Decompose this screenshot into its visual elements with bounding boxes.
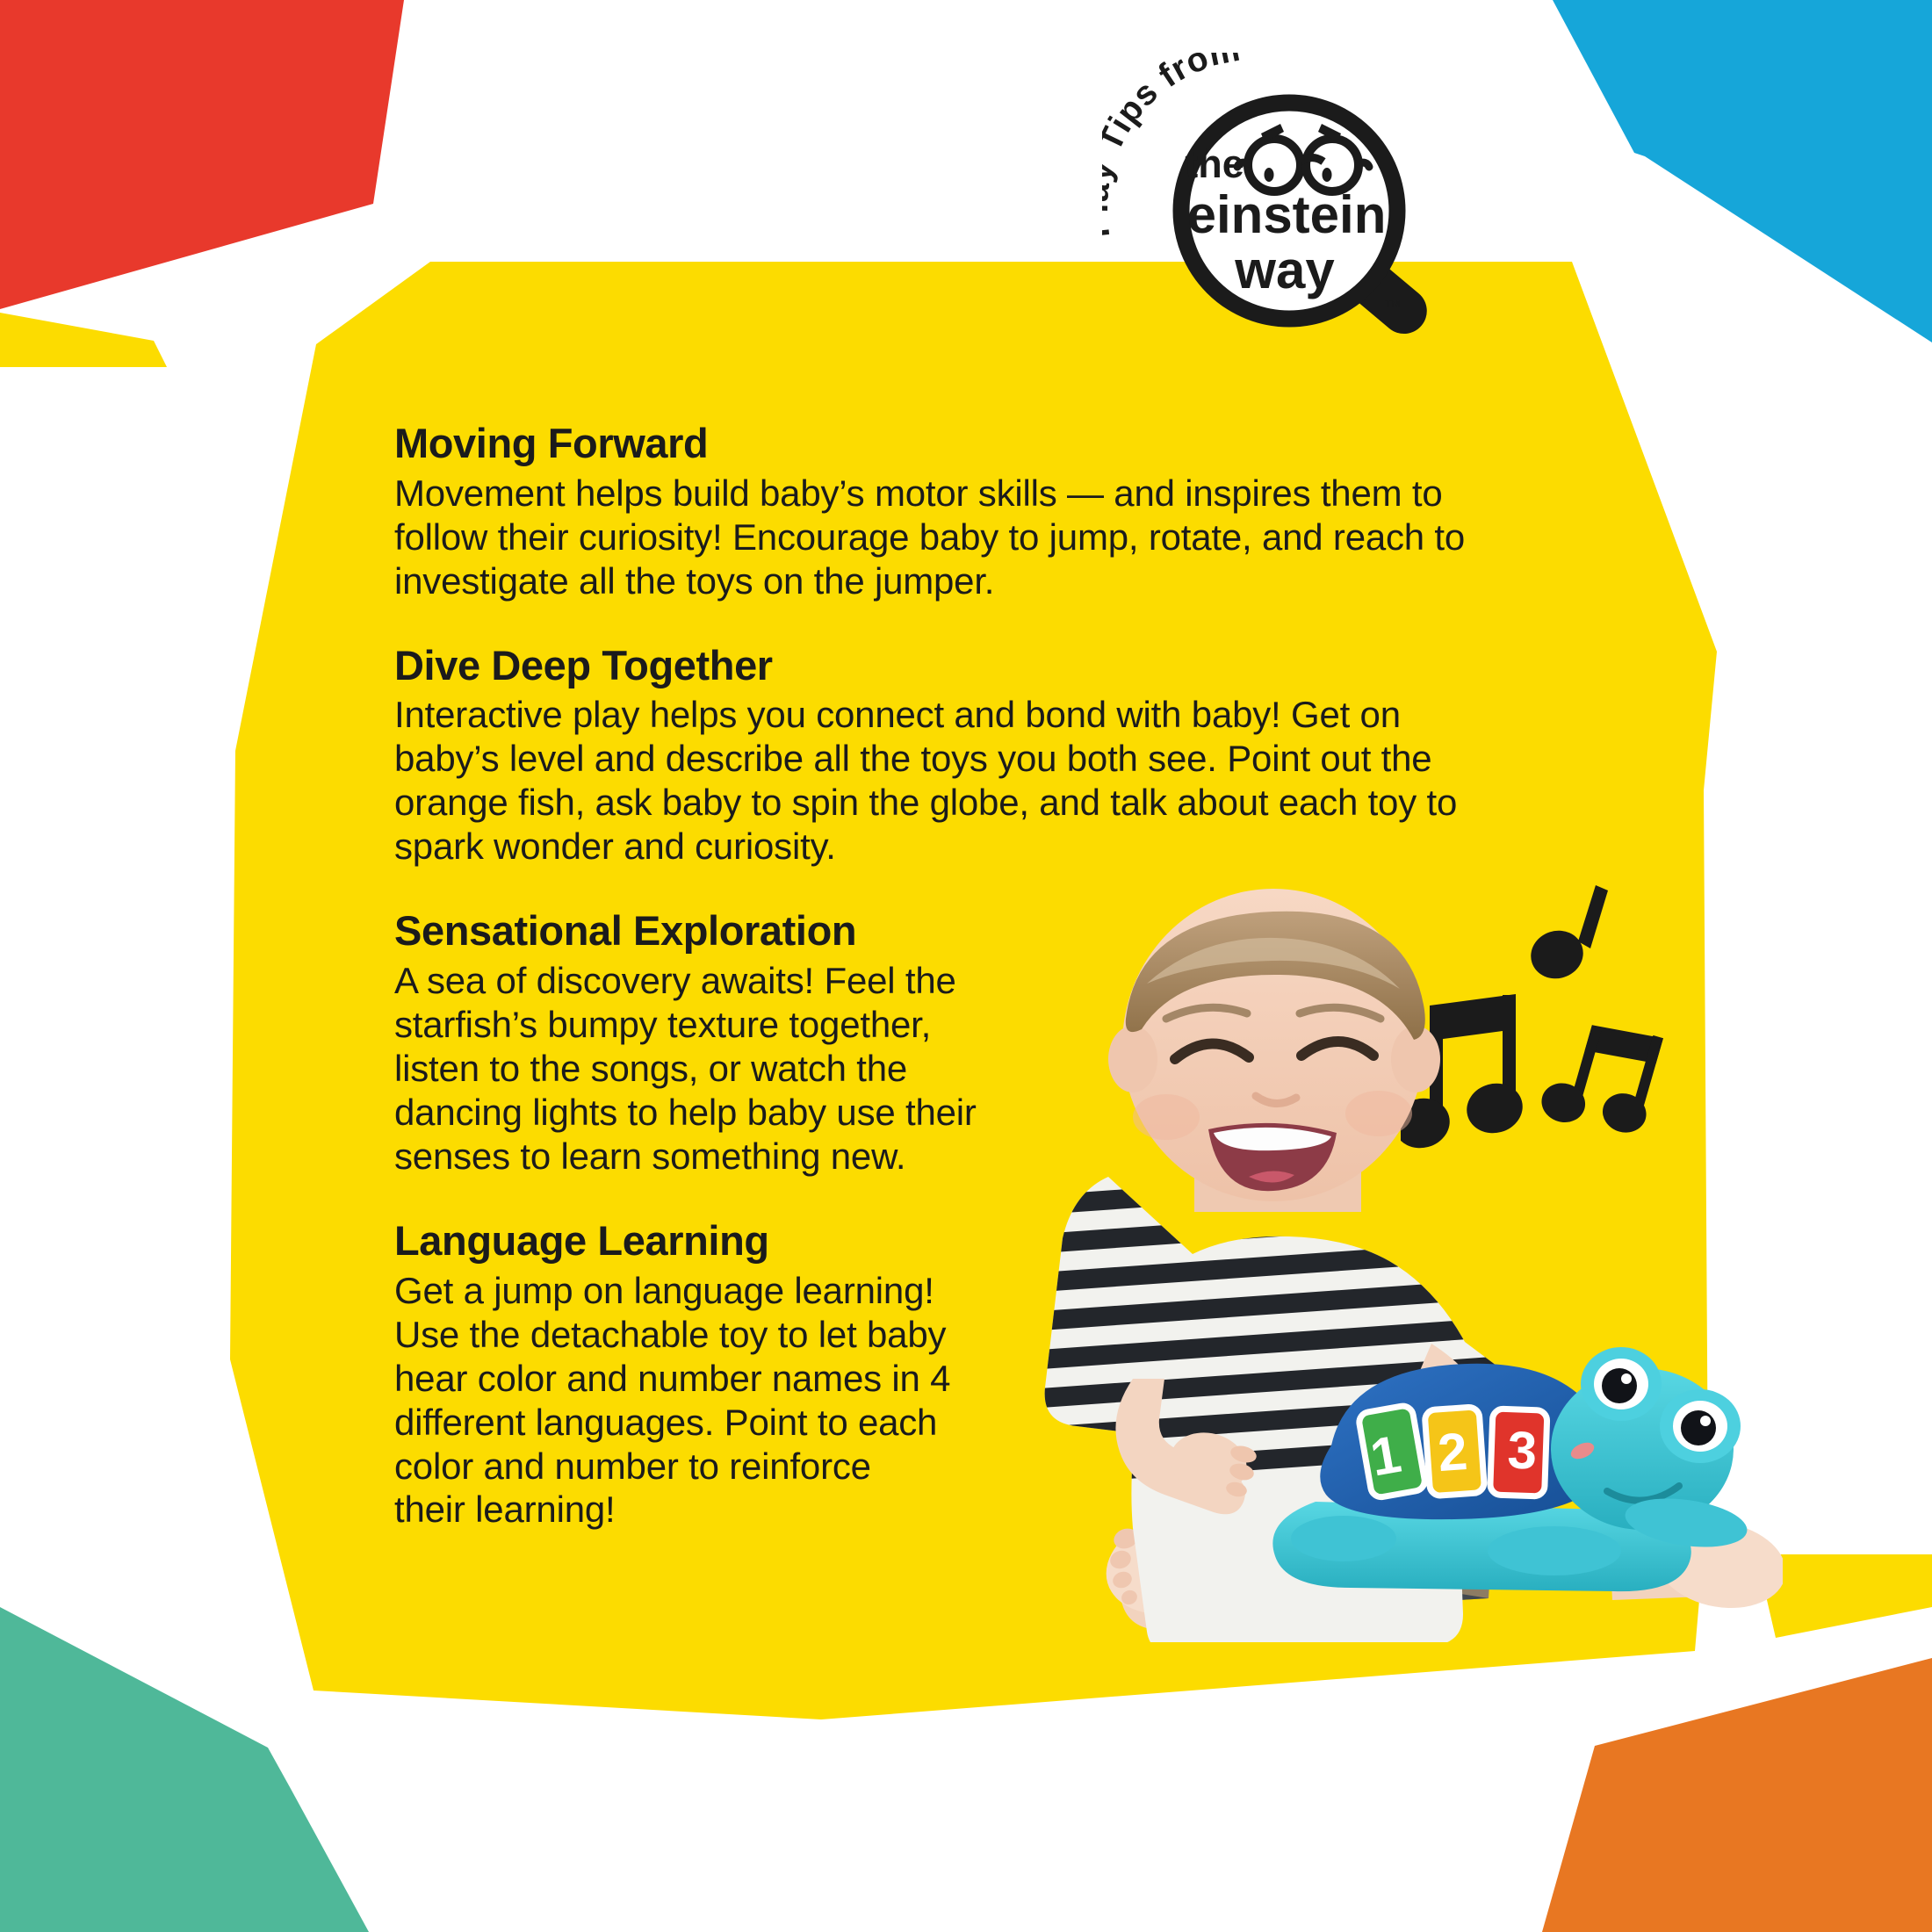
play-tips-list: Moving Forward Movement helps build baby… [394, 422, 1589, 1532]
tip-block-moving-forward: Moving Forward Movement helps build baby… [394, 422, 1589, 603]
tip-block-sensational-exploration: Sensational Exploration A sea of discove… [394, 909, 1589, 1179]
tip-block-language-learning: Language Learning Get a jump on language… [394, 1219, 1589, 1532]
tip-heading: Sensational Exploration [394, 909, 1062, 954]
tip-block-dive-deep-together: Dive Deep Together Interactive play help… [394, 644, 1589, 869]
yellow-fleck-top-left [0, 306, 167, 367]
green-corner-shape [0, 1607, 422, 1932]
yellow-fleck-top-right [1756, 1554, 1932, 1638]
logo-line-way: way [1234, 241, 1335, 299]
tip-heading: Moving Forward [394, 422, 1589, 466]
blue-corner-shape [1519, 0, 1932, 342]
tip-body: A sea of discovery awaits! Feel the star… [394, 959, 1044, 1179]
tip-body: Movement helps build baby’s motor skills… [394, 472, 1589, 603]
red-corner-shape [0, 0, 413, 342]
tip-body: Interactive play helps you connect and b… [394, 693, 1589, 869]
tip-heading: Dive Deep Together [394, 644, 1589, 688]
poster-canvas: Play Tips from the einstein way TM [0, 0, 1932, 1932]
logo-trademark: TM [1385, 298, 1400, 310]
einstein-way-logo: Play Tips from the einstein way TM [1102, 53, 1471, 342]
orange-corner-shape [1510, 1607, 1932, 1932]
tip-body: Get a jump on language learning! Use the… [394, 1269, 1044, 1532]
tip-heading: Language Learning [394, 1219, 1062, 1264]
logo-line-einstein: einstein [1187, 185, 1387, 244]
